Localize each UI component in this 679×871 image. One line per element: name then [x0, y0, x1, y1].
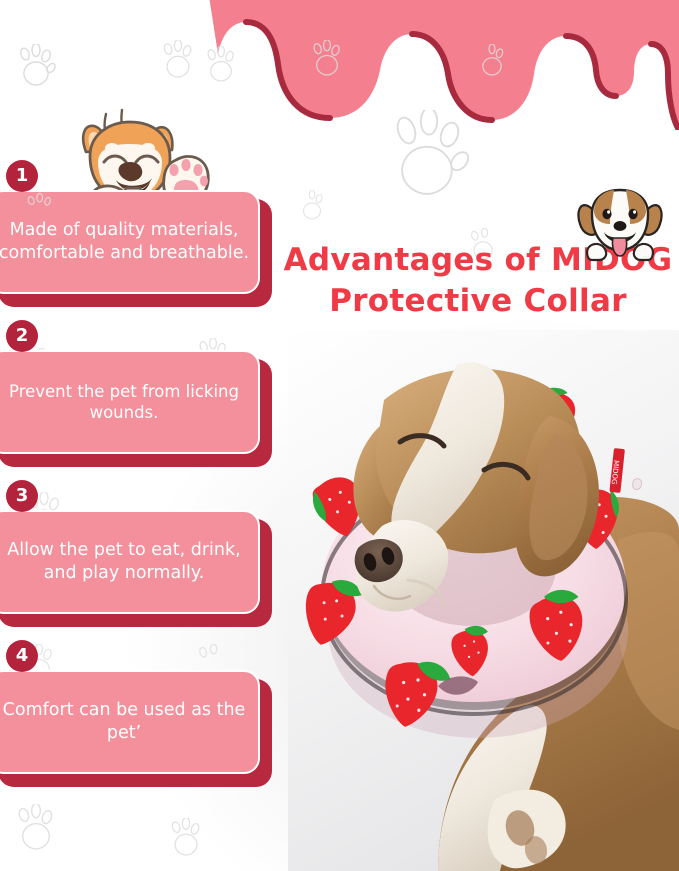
feature-number-badge: 1: [6, 160, 38, 192]
feature-text: Made of quality materials, comfortable a…: [0, 219, 250, 265]
feature-callout-box: Allow the pet to eat, drink, and play no…: [0, 510, 272, 620]
callout-body: Prevent the pet from licking wounds.: [0, 350, 260, 454]
paw-print-watermark: [298, 190, 326, 220]
feature-number-badge: 4: [6, 640, 38, 672]
feature-callout-box: Comfort can be used as the pet’: [0, 670, 272, 780]
feature-number-badge: 3: [6, 480, 38, 512]
page-title-line-2: Protective Collar: [282, 281, 674, 322]
feature-item: 4 Comfort can be used as the pet’: [0, 640, 292, 800]
feature-item: 1 Made of quality materials, comfortable…: [0, 160, 292, 320]
feature-item: 3 Allow the pet to eat, drink, and play …: [0, 480, 292, 640]
callout-body: Made of quality materials, comfortable a…: [0, 190, 260, 294]
feature-list: 1 Made of quality materials, comfortable…: [0, 160, 292, 800]
feature-number-badge: 2: [6, 320, 38, 352]
infographic-page: MIDOG: [0, 0, 679, 871]
feature-callout-box: Prevent the pet from licking wounds.: [0, 350, 272, 460]
callout-body: Comfort can be used as the pet’: [0, 670, 260, 774]
feature-text: Allow the pet to eat, drink, and play no…: [0, 539, 250, 585]
jack-russell-mascot: [570, 184, 670, 262]
paw-print-watermark: [168, 818, 204, 856]
feature-callout-box: Made of quality materials, comfortable a…: [0, 190, 272, 300]
feature-text: Comfort can be used as the pet’: [0, 699, 250, 745]
feature-text: Prevent the pet from licking wounds.: [0, 381, 250, 424]
paw-print-watermark: [14, 804, 58, 850]
product-photo: MIDOG: [288, 330, 679, 871]
callout-body: Allow the pet to eat, drink, and play no…: [0, 510, 260, 614]
feature-item: 2 Prevent the pet from licking wounds.: [0, 320, 292, 480]
